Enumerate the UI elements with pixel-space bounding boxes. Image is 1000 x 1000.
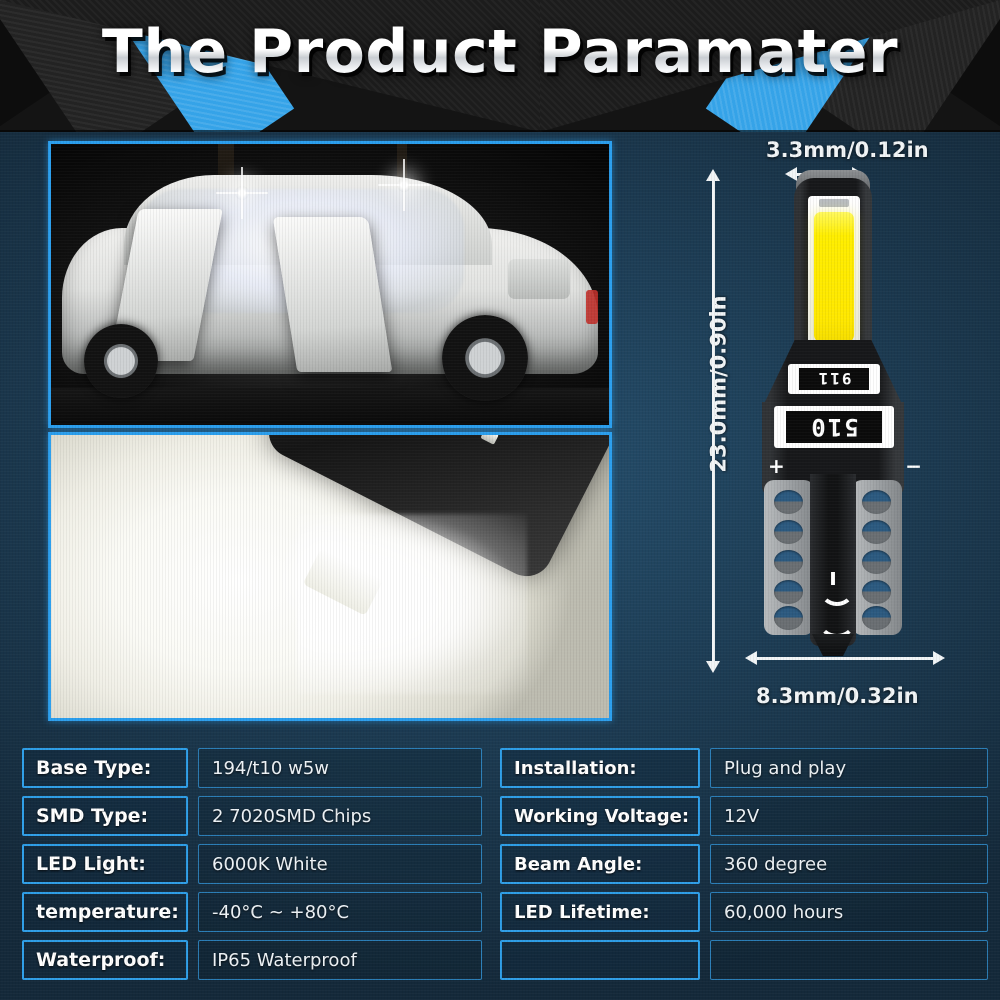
spec-label-beam-angle: Beam Angle: [500, 844, 700, 884]
spec-label-base-type: Base Type: [22, 748, 188, 788]
table-row: Waterproof: IP65 Waterproof [22, 940, 492, 982]
spec-value-smd-type: 2 7020SMD Chips [198, 796, 482, 836]
table-row: Installation: Plug and play [500, 748, 970, 790]
table-row [500, 940, 970, 982]
lit-bulb-photo [48, 432, 612, 721]
base-arc-symbol-icon [820, 576, 854, 606]
contact-dimple [774, 520, 803, 544]
spec-value-empty [710, 940, 988, 980]
spec-label-led-lifetime: LED Lifetime: [500, 892, 700, 932]
spec-value-base-type: 194/t10 w5w [198, 748, 482, 788]
taillight [586, 290, 598, 324]
spec-value-working-voltage: 12V [710, 796, 988, 836]
bulb-base-contacts [762, 480, 904, 645]
car-interior-photo [48, 141, 612, 428]
spec-value-installation: Plug and play [710, 748, 988, 788]
bulb-dimension-diagram: 3.3mm/0.12in 23.0mm/0.90in 8.3mm/0.32in … [648, 132, 1000, 740]
cob-led-chip [814, 212, 854, 342]
spec-label-led-light: LED Light: [22, 844, 188, 884]
positive-polarity-marker: + [768, 456, 785, 476]
product-parameter-infographic: The Product Paramater [0, 0, 1000, 1000]
spec-column-left: Base Type: 194/t10 w5w SMD Type: 2 7020S… [22, 748, 492, 988]
contact-dimple [774, 606, 803, 630]
rear-wheel [442, 315, 528, 401]
light-flare [297, 514, 527, 694]
spec-value-led-lifetime: 60,000 hours [710, 892, 988, 932]
contact-dimple [862, 550, 891, 574]
led-bulb-illustration: 911 510 + − [744, 170, 944, 660]
right-contact-strip [852, 480, 902, 635]
table-row: LED Lifetime: 60,000 hours [500, 892, 970, 934]
width-dimension-label: 3.3mm/0.12in [766, 138, 929, 162]
cob-led-notch [819, 199, 849, 207]
table-row: temperature: -40°C ~ +80°C [22, 892, 492, 934]
spec-value-temperature: -40°C ~ +80°C [198, 892, 482, 932]
contact-dimple [862, 520, 891, 544]
resistor-chip-911: 911 [788, 364, 880, 394]
spec-label-empty [500, 940, 700, 980]
spec-label-installation: Installation: [500, 748, 700, 788]
table-row: Base Type: 194/t10 w5w [22, 748, 492, 790]
resistor-chip-510: 510 [774, 406, 894, 448]
base-bottom-tab [812, 634, 854, 656]
contact-dimple [774, 550, 803, 574]
spec-value-waterproof: IP65 Waterproof [198, 940, 482, 980]
contact-dimple [862, 606, 891, 630]
base-width-dimension-label: 8.3mm/0.32in [756, 684, 919, 708]
spec-label-waterproof: Waterproof: [22, 940, 188, 980]
table-row: SMD Type: 2 7020SMD Chips [22, 796, 492, 838]
height-dimension-arrow-icon [712, 180, 715, 662]
front-wheel [84, 324, 158, 398]
spec-column-right: Installation: Plug and play Working Volt… [500, 748, 970, 988]
contact-dimple [862, 490, 891, 514]
height-dimension-label: 23.0mm/0.90in [707, 295, 731, 472]
table-row: Beam Angle: 360 degree [500, 844, 970, 886]
table-row: Working Voltage: 12V [500, 796, 970, 838]
spec-value-led-light: 6000K White [198, 844, 482, 884]
resistor-chip-510-marking: 510 [786, 411, 882, 443]
contact-dimple [774, 490, 803, 514]
specification-table: Base Type: 194/t10 w5w SMD Type: 2 7020S… [0, 748, 1000, 1000]
page-title: The Product Paramater [0, 17, 1000, 87]
spec-value-beam-angle: 360 degree [710, 844, 988, 884]
negative-polarity-marker: − [905, 456, 922, 476]
civic-badge [508, 259, 570, 299]
left-contact-strip [764, 480, 814, 635]
spec-label-working-voltage: Working Voltage: [500, 796, 700, 836]
base-arc-symbol-icon [818, 604, 856, 638]
spec-label-temperature: temperature: [22, 892, 188, 932]
smd-chip [480, 432, 498, 444]
contact-dimple [774, 580, 803, 604]
spec-label-smd-type: SMD Type: [22, 796, 188, 836]
header-banner: The Product Paramater [0, 0, 1000, 132]
table-row: LED Light: 6000K White [22, 844, 492, 886]
contact-dimple [862, 580, 891, 604]
resistor-chip-911-marking: 911 [799, 368, 869, 390]
dome-light-flare [397, 178, 411, 192]
